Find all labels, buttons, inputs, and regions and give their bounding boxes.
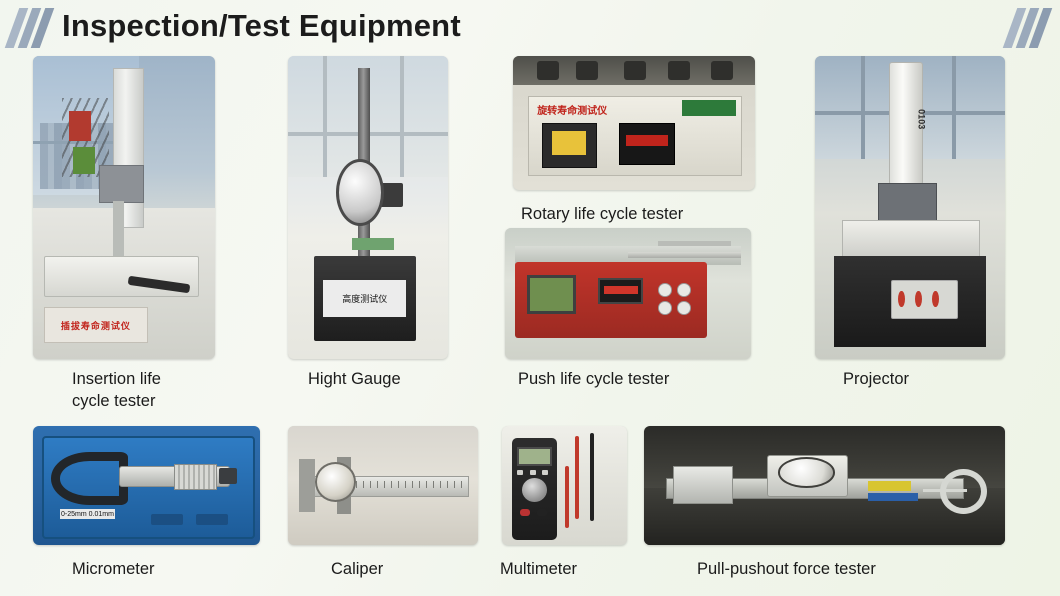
- photo-content: [644, 426, 1005, 545]
- caption-hight-gauge: Hight Gauge: [308, 368, 488, 390]
- photo-hight-gauge: 高度测试仪: [288, 56, 448, 359]
- photo-case-slot: [196, 514, 228, 525]
- photo-head-block: [878, 183, 937, 221]
- photo-pull-pushout-force-tester: [644, 426, 1005, 545]
- photo-test-head: [99, 165, 145, 203]
- photo-measuring-tip: [352, 238, 394, 250]
- photo-push-life-cycle-tester: [505, 228, 751, 359]
- photo-content: [288, 426, 478, 545]
- photo-red-probe: [575, 436, 579, 519]
- caption-insertion-life-cycle-tester: Insertion life cycle tester: [72, 368, 252, 413]
- photo-content: [505, 228, 751, 359]
- photo-black-probe: [590, 433, 594, 521]
- photo-wheel-spoke: [923, 489, 966, 492]
- photo-insertion-life-cycle-tester: 插拔寿命测试仪: [33, 56, 215, 359]
- photo-probe-jack: [520, 509, 530, 516]
- caption-rotary-life-cycle-tester: Rotary life cycle tester: [521, 203, 781, 225]
- photo-control-screen: [527, 275, 576, 314]
- photo-probe-jack: [537, 509, 547, 516]
- photo-window-frame: [400, 56, 404, 177]
- photo-scale: [356, 481, 462, 488]
- photo-knob: [711, 61, 733, 80]
- decor-stripes-right-icon: [1008, 8, 1050, 48]
- photo-machine-label: 旋转寿命测试仪: [537, 100, 677, 119]
- photo-lcd-screen: [517, 447, 552, 466]
- photo-post: [113, 201, 124, 262]
- photo-window-mullion: [861, 56, 865, 159]
- photo-knob: [576, 61, 598, 80]
- photo-dial: [315, 462, 357, 502]
- photo-button: [658, 301, 672, 315]
- photo-caliper: [288, 426, 478, 545]
- photo-meter-face: [552, 131, 586, 155]
- photo-control-panel: [891, 280, 958, 318]
- photo-gauge-dial: [778, 457, 836, 488]
- caption-micrometer: Micrometer: [72, 558, 252, 580]
- photo-red-component: [69, 111, 91, 141]
- photo-button: [530, 470, 536, 475]
- slide: Inspection/Test Equipment 插拔寿命测试仪 Insert…: [0, 0, 1060, 596]
- photo-content: 0103: [815, 56, 1005, 359]
- photo-knob: [537, 61, 559, 80]
- photo-micrometer-frame: [51, 452, 128, 504]
- photo-machine-label: 高度测试仪: [323, 280, 406, 316]
- photo-machine-label: 插拔寿命测试仪: [44, 307, 148, 342]
- caption-pull-pushout-force-tester: Pull-pushout force tester: [697, 558, 997, 580]
- photo-rail: [628, 252, 741, 259]
- photo-digital-display: [619, 123, 674, 165]
- photo-tube-label: 0103: [884, 109, 926, 130]
- photo-knob: [624, 61, 646, 80]
- photo-measuring-stage: [842, 220, 981, 258]
- caption-multimeter: Multimeter: [500, 558, 680, 580]
- photo-range-label: 0-25mm 0.01mm: [60, 509, 114, 519]
- photo-cross-bar: [658, 241, 732, 246]
- photo-content: 0-25mm 0.01mm: [33, 426, 260, 545]
- photo-multimeter: [502, 426, 627, 545]
- photo-ratchet: [219, 468, 237, 485]
- photo-dial-indicator: [336, 159, 384, 226]
- photo-content: 插拔寿命测试仪: [33, 56, 215, 359]
- photo-fixture-block: [673, 466, 733, 504]
- photo-rotary-life-cycle-tester: 旋转寿命测试仪: [513, 56, 755, 190]
- photo-projector: 0103: [815, 56, 1005, 359]
- photo-button: [658, 283, 672, 297]
- photo-button: [517, 470, 523, 475]
- photo-fixed-jaw: [299, 459, 314, 511]
- photo-micrometer: 0-25mm 0.01mm: [33, 426, 260, 545]
- page-title: Inspection/Test Equipment: [62, 8, 461, 44]
- photo-case-slot: [151, 514, 183, 525]
- photo-window-frame: [323, 56, 327, 177]
- photo-yellow-sticker: [868, 481, 911, 492]
- photo-content: 旋转寿命测试仪: [513, 56, 755, 190]
- photo-blue-sticker: [868, 493, 919, 501]
- photo-button: [542, 470, 548, 475]
- decor-stripes-left-icon: [10, 8, 52, 48]
- caption-push-life-cycle-tester: Push life cycle tester: [518, 368, 778, 390]
- photo-content: 高度测试仪: [288, 56, 448, 359]
- photo-green-sticker: [682, 100, 735, 116]
- photo-thimble: [174, 464, 217, 490]
- photo-content: [502, 426, 627, 545]
- caption-caliper: Caliper: [331, 558, 511, 580]
- photo-digital-display: [598, 278, 642, 304]
- photo-red-probe-lead: [565, 466, 569, 528]
- photo-window-mullion: [952, 56, 956, 159]
- photo-green-component: [73, 147, 95, 174]
- photo-rotary-switch: [522, 478, 547, 502]
- photo-knob: [668, 61, 690, 80]
- caption-projector: Projector: [843, 368, 1023, 390]
